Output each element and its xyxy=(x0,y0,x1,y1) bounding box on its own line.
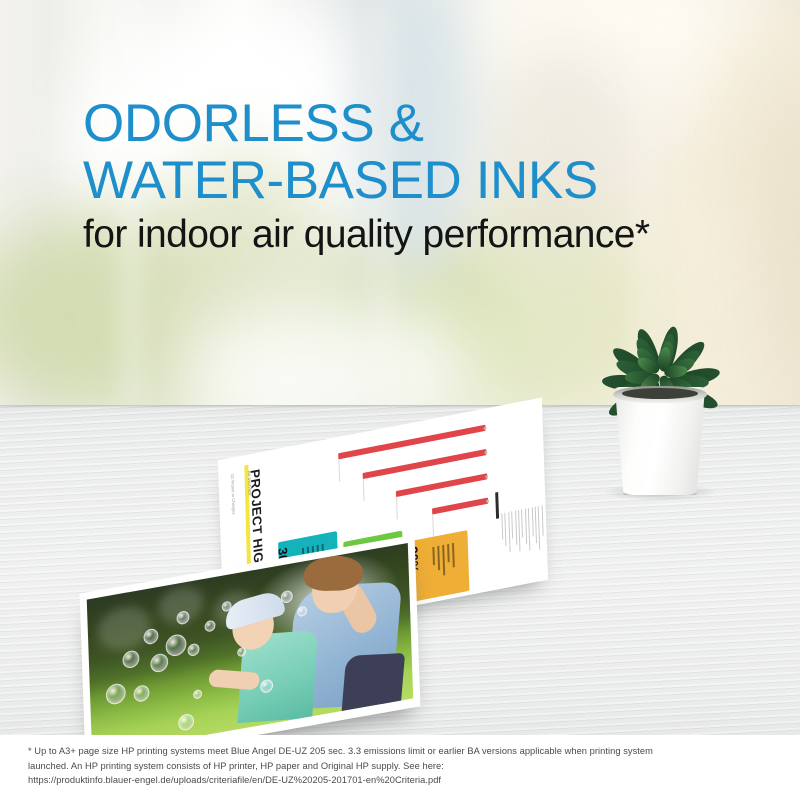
soap-bubble xyxy=(193,689,202,700)
pot-soil xyxy=(622,388,698,399)
brochure-text-line xyxy=(524,509,527,545)
brochure-bar xyxy=(432,498,488,515)
soap-bubble xyxy=(187,643,199,657)
brochure-card-caption-line xyxy=(438,546,440,571)
brochure-text-line xyxy=(501,513,503,540)
brochure-text-line xyxy=(521,509,523,538)
brochure-text-line xyxy=(508,512,511,553)
brochure-text-line xyxy=(514,511,517,546)
footnote-line-2: launched. An HP printing system consists… xyxy=(28,759,778,774)
brochure-card-caption-line xyxy=(448,544,450,562)
soap-bubble xyxy=(150,652,168,673)
page-title: ODORLESS & WATER-BASED INKS xyxy=(83,95,743,209)
brochure-card-caption-line xyxy=(452,543,454,568)
footnote-line-3: https://produktinfo.blauer-engel.de/uplo… xyxy=(28,773,778,788)
brochure-bar-endpoint xyxy=(485,475,488,479)
brochure-bar-endpoint xyxy=(484,427,487,431)
brochure-bar-guide xyxy=(432,514,434,536)
soap-bubble xyxy=(143,628,158,646)
brochure-bar-endpoint xyxy=(486,499,489,503)
woman-skirt xyxy=(341,653,405,717)
brochure-eyebrow: Q1 Report to Changes xyxy=(230,474,235,515)
brochure-text-line xyxy=(531,507,533,537)
soap-bubble xyxy=(178,713,194,732)
footnote-block: * Up to A3+ page size HP printing system… xyxy=(0,735,800,800)
soap-bubble xyxy=(176,610,189,625)
subheadline: for indoor air quality performance* xyxy=(83,214,649,257)
brochure-text-line xyxy=(518,510,521,552)
ceramic-pot xyxy=(612,387,708,495)
soap-bubble xyxy=(204,620,215,633)
brochure-card-caption-line xyxy=(443,545,446,576)
soap-bubble xyxy=(106,682,126,706)
brochure-bar-guide xyxy=(363,479,365,501)
marketing-banner: Q1 Report to Changes An overview PROJECT… xyxy=(0,0,800,800)
brochure-text-line xyxy=(528,508,531,551)
brochure-bar xyxy=(396,473,488,497)
brochure-bar-guide xyxy=(338,459,340,481)
soap-bubble xyxy=(281,590,293,604)
child-arm xyxy=(207,669,261,690)
brochure-text-line xyxy=(541,505,543,536)
soap-bubble xyxy=(165,633,186,658)
soap-bubble xyxy=(133,684,149,703)
headline-line-2: WATER-BASED INKS xyxy=(83,152,743,209)
brochure-text-line xyxy=(504,512,507,546)
brochure-text-line xyxy=(534,507,537,544)
brochure-text-line xyxy=(511,511,513,539)
brochure-text-rule xyxy=(495,492,499,519)
brochure-text-line xyxy=(538,506,541,550)
brochure-card-caption-line xyxy=(433,547,435,565)
brochure-bar xyxy=(363,449,487,479)
soap-bubble xyxy=(122,649,139,669)
potted-succulent xyxy=(596,305,726,495)
headline-line-1: ODORLESS & xyxy=(83,95,743,152)
brochure-bar-endpoint xyxy=(484,451,487,455)
brochure-bar-guide xyxy=(396,497,398,519)
brochure-stat-card: 20% xyxy=(408,530,469,602)
footnote-line-1: * Up to A3+ page size HP printing system… xyxy=(28,744,778,759)
bokeh-spot xyxy=(97,603,152,655)
